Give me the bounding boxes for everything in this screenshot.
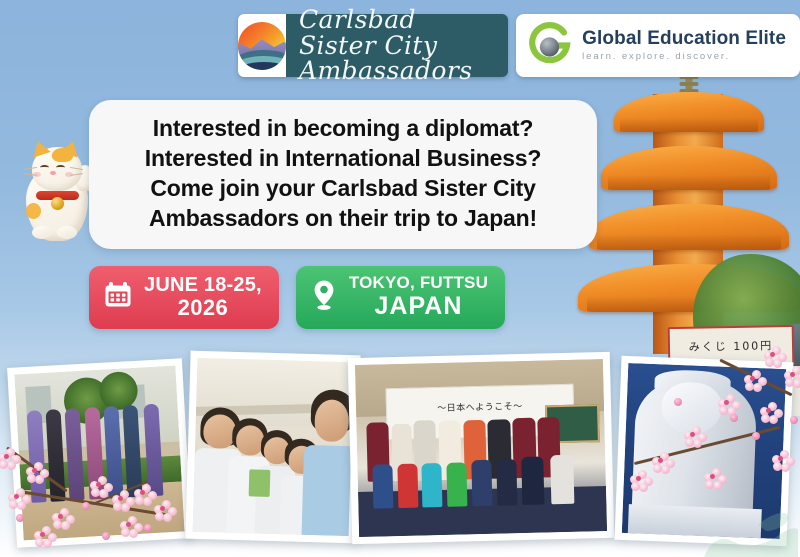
location-badge-line1: TOKYO, FUTTSU [349,274,488,293]
calendar-icon [103,280,133,315]
photo-classroom-group-image: 〜日本へようこそ〜 [355,359,607,537]
photo-peace-signs-image [193,358,354,536]
location-badge-text: TOKYO, FUTTSU JAPAN [349,274,488,320]
neko-bell [51,197,64,210]
photo-peace-signs[interactable] [185,351,360,544]
photo-yukata-group-image [14,366,184,541]
location-badge-line2: JAPAN [349,293,488,321]
neko-body-spot [26,203,41,219]
date-badge-text: JUNE 18-25, 2026 [144,274,262,320]
info-badges: JUNE 18-25, 2026 TOKYO, FUTTSU JAPAN [89,266,505,329]
headline-line-2: Interested in International Business? [107,143,579,173]
neko-eye-right [56,165,65,170]
date-badge[interactable]: JUNE 18-25, 2026 [89,266,279,329]
pagoda-illustration [575,58,800,358]
headline-line-1: Interested in becoming a diplomat? [107,113,579,143]
neko-paw-left [32,226,52,239]
headline-line-4: Ambassadors on their trip to Japan! [107,203,579,233]
carlsbad-logo-line1: Carlsbad Sister City [299,7,494,58]
carlsbad-emblem-frame [238,14,286,77]
date-badge-line2: 2026 [144,296,262,320]
map-pin-icon [310,279,338,316]
logo-bar: Carlsbad Sister City Ambassadors [238,14,800,77]
headline-line-3: Come join your Carlsbad Sister City [107,173,579,203]
carlsbad-logo-text: Carlsbad Sister City Ambassadors [286,7,494,84]
photo-strip: 〜日本へようこそ〜 [0,345,800,557]
neko-eye-left [40,165,49,170]
neko-nose [50,171,56,175]
pagoda-roof-3 [589,204,789,250]
flyer-canvas: みくじ 100円 Carlsbad Sister City Ambassador… [0,0,800,557]
gee-logo-text: Global Education Elite learn. explore. d… [582,29,786,62]
neko-paw-right [57,226,77,239]
maneki-neko-lucky-cat [20,137,96,241]
neko-head-patch [52,148,73,162]
gee-logo-name: Global Education Elite [582,29,786,48]
gee-circle-mark [526,22,573,69]
pagoda-roof-1 [614,92,764,132]
date-badge-line1: JUNE 18-25, [144,274,262,296]
headline-card: Interested in becoming a diplomat? Inter… [89,100,597,249]
gee-logo-tagline: learn. explore. discover. [582,52,786,62]
carlsbad-sunset-waves-emblem [238,22,286,70]
photo-classroom-group[interactable]: 〜日本へようこそ〜 [348,352,614,544]
pagoda-roof-2 [601,146,777,190]
location-badge[interactable]: TOKYO, FUTTSU JAPAN [296,266,505,329]
carlsbad-sister-city-logo[interactable]: Carlsbad Sister City Ambassadors [238,14,508,77]
global-education-elite-logo[interactable]: Global Education Elite learn. explore. d… [516,14,800,77]
carlsbad-logo-line2: Ambassadors [299,58,494,84]
photo-yukata-group[interactable] [7,358,192,547]
japan-map-silhouette [700,495,800,557]
